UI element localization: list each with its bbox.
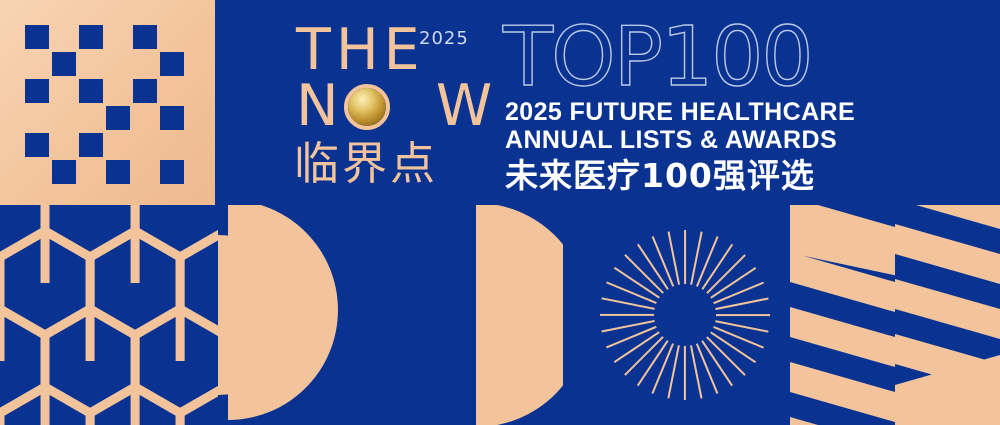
- headline-line-1: 2025 FUTURE HEALTHCARE: [505, 100, 985, 125]
- gold-sphere-inner: [348, 88, 386, 126]
- hexagon-lattice-svg: [0, 205, 218, 425]
- logo-letter-w: W: [436, 78, 495, 135]
- checker-cell: [106, 160, 130, 184]
- headline-chinese: 未来医疗100强评选: [505, 158, 985, 194]
- decorative-band: [0, 205, 1000, 425]
- top100-headline: TOP100: [503, 17, 812, 99]
- hexagon-lattice-panel: [0, 205, 218, 425]
- the-now-logo: THE 2025 N W 临界点: [296, 22, 496, 192]
- checker-cell: [133, 25, 157, 49]
- diagonal-stripes-svg: [790, 205, 1000, 425]
- checker-cell: [79, 79, 103, 103]
- starburst-panel: [585, 205, 785, 425]
- gold-sphere-icon: [344, 84, 390, 130]
- logo-letter-n: N: [296, 78, 342, 135]
- checkerboard-panel: [0, 0, 215, 205]
- headline-line-2: ANNUAL LISTS & AWARDS: [505, 128, 985, 153]
- diagonal-stripes-panel: [790, 205, 1000, 425]
- headline-block: 2025 FUTURE HEALTHCARE ANNUAL LISTS & AW…: [505, 100, 985, 194]
- checker-cell: [52, 52, 76, 76]
- circles-panel: [218, 205, 563, 425]
- hexagon-cell: [180, 387, 218, 425]
- checker-cell: [79, 25, 103, 49]
- circles-svg: [218, 205, 563, 425]
- checker-cell: [79, 133, 103, 157]
- checker-cell: [25, 133, 49, 157]
- checker-cell: [133, 79, 157, 103]
- checker-cell: [160, 52, 184, 76]
- logo-chinese-title: 临界点: [294, 140, 438, 188]
- checker-cell: [25, 25, 49, 49]
- semicircle-large: [228, 205, 338, 420]
- logo-word-now: N W: [296, 78, 495, 135]
- checker-cell: [106, 106, 130, 130]
- hexagon-cell: [45, 205, 135, 257]
- checker-cell: [160, 160, 184, 184]
- logo-word-the: THE: [296, 22, 425, 79]
- logo-year-superscript: 2025: [419, 28, 469, 49]
- pacman-circle: [364, 205, 563, 425]
- checker-cell: [52, 160, 76, 184]
- checker-cell: [160, 106, 184, 130]
- top100-outline-wrap: TOP100: [503, 17, 812, 99]
- hexagon-cell: [135, 205, 218, 257]
- checker-cell: [25, 79, 49, 103]
- banner-root: THE 2025 N W 临界点 TOP100 2025 FUTURE HEAL…: [0, 0, 1000, 425]
- starburst-core: [654, 284, 716, 346]
